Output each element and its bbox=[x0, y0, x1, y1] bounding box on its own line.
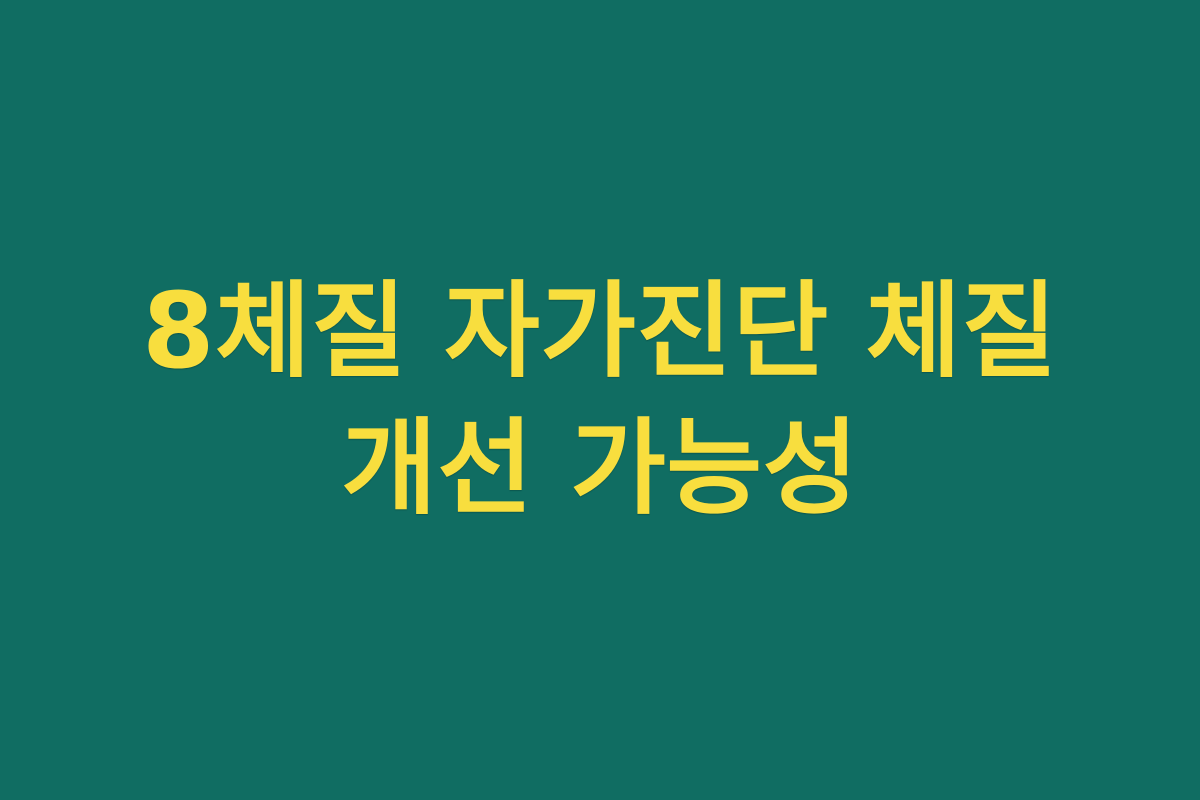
page-title: 8체질 자가진단 체질 개선 가능성 bbox=[100, 263, 1100, 538]
title-card: 8체질 자가진단 체질 개선 가능성 bbox=[0, 0, 1200, 800]
